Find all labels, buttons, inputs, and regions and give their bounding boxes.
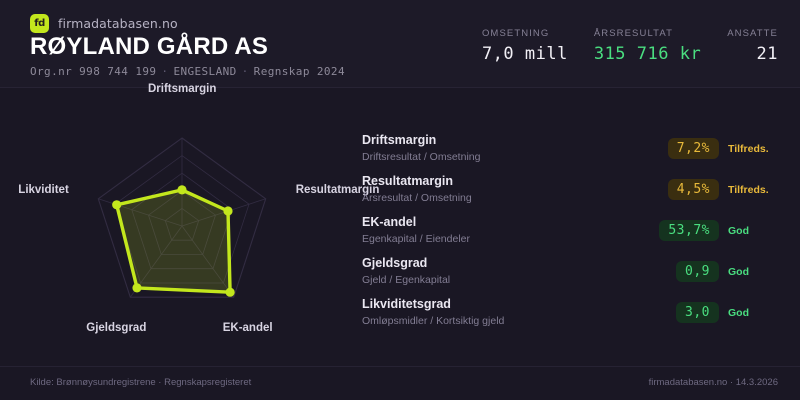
radar-axis-label-gjeldsgrad: Gjeldsgrad bbox=[86, 322, 146, 334]
metric-text: Resultatmargin Årsresultat / Omsetning bbox=[362, 174, 632, 204]
footer-source: Kilde: Brønnøysundregistrene · Regnskaps… bbox=[30, 377, 251, 388]
metric-name: Driftsmargin bbox=[362, 133, 632, 149]
metric-formula: Egenkapital / Eiendeler bbox=[362, 233, 632, 246]
stat-arsresultat: ÅRSRESULTAT 315 716 kr bbox=[594, 28, 701, 64]
radar-point-driftsmargin bbox=[177, 185, 186, 194]
stat-value: 21 bbox=[727, 44, 778, 64]
radar-chart-svg bbox=[0, 88, 350, 338]
status-badge: God bbox=[728, 266, 782, 278]
metric-name: Likviditetsgrad bbox=[362, 297, 632, 313]
metric-name: Resultatmargin bbox=[362, 174, 632, 190]
stat-value: 7,0 mill bbox=[482, 44, 568, 64]
stat-ansatte: ANSATTE 21 bbox=[727, 28, 778, 64]
metric-value-badge: 3,0 bbox=[676, 302, 719, 323]
radar-axis-label-driftsmargin: Driftsmargin bbox=[148, 83, 216, 95]
metric-name: EK-andel bbox=[362, 215, 632, 231]
metric-right: 4,5% Tilfreds. bbox=[632, 179, 782, 200]
header-stats: OMSETNING 7,0 mill ÅRSRESULTAT 315 716 k… bbox=[482, 28, 778, 64]
metric-value-badge: 53,7% bbox=[659, 220, 719, 241]
radar-point-ek-andel bbox=[226, 288, 235, 297]
infographic-card: fd firmadatabasen.no RØYLAND GÅRD AS Org… bbox=[0, 0, 800, 400]
radar-axis-label-likviditet: Likviditet bbox=[18, 184, 68, 196]
firmadatabasen-logo-icon: fd bbox=[30, 14, 49, 33]
metric-row-ek-andel: EK-andel Egenkapital / Eiendeler 53,7% G… bbox=[362, 210, 782, 251]
metric-formula: Gjeld / Egenkapital bbox=[362, 274, 632, 287]
metric-formula: Omløpsmidler / Kortsiktig gjeld bbox=[362, 315, 632, 328]
stat-omsetning: OMSETNING 7,0 mill bbox=[482, 28, 568, 64]
metric-formula: Driftsresultat / Omsetning bbox=[362, 151, 632, 164]
org-number: Org.nr 998 744 199 bbox=[30, 65, 156, 78]
meta-separator-1: · bbox=[156, 65, 173, 78]
metric-formula: Årsresultat / Omsetning bbox=[362, 192, 632, 205]
metric-text: Likviditetsgrad Omløpsmidler / Kortsikti… bbox=[362, 297, 632, 327]
footer: Kilde: Brønnøysundregistrene · Regnskaps… bbox=[0, 366, 800, 400]
status-badge: God bbox=[728, 307, 782, 319]
metric-row-driftsmargin: Driftsmargin Driftsresultat / Omsetning … bbox=[362, 128, 782, 169]
metric-value-badge: 7,2% bbox=[668, 138, 719, 159]
metrics-list: Driftsmargin Driftsresultat / Omsetning … bbox=[362, 128, 782, 333]
stat-label: OMSETNING bbox=[482, 28, 568, 39]
metric-right: 0,9 God bbox=[632, 261, 782, 282]
stat-value: 315 716 kr bbox=[594, 44, 701, 64]
footer-attribution: firmadatabasen.no · 14.3.2026 bbox=[649, 377, 778, 388]
stat-label: ANSATTE bbox=[727, 28, 778, 39]
metric-value-badge: 0,9 bbox=[676, 261, 719, 282]
metric-row-likviditetsgrad: Likviditetsgrad Omløpsmidler / Kortsikti… bbox=[362, 292, 782, 333]
radar-point-gjeldsgrad bbox=[132, 283, 141, 292]
brand[interactable]: fd firmadatabasen.no bbox=[30, 14, 178, 33]
accounting-period: Regnskap 2024 bbox=[254, 65, 345, 78]
company-meta: Org.nr 998 744 199·ENGESLAND·Regnskap 20… bbox=[30, 65, 345, 78]
radar-axis-label-ek-andel: EK-andel bbox=[223, 322, 273, 334]
metric-right: 3,0 God bbox=[632, 302, 782, 323]
radar-point-resultatmargin bbox=[223, 206, 232, 215]
metric-right: 53,7% God bbox=[632, 220, 782, 241]
status-badge: Tilfreds. bbox=[728, 143, 782, 155]
header: fd firmadatabasen.no RØYLAND GÅRD AS Org… bbox=[0, 0, 800, 88]
brand-name: firmadatabasen.no bbox=[58, 16, 178, 31]
metric-row-gjeldsgrad: Gjeldsgrad Gjeld / Egenkapital 0,9 God bbox=[362, 251, 782, 292]
status-badge: God bbox=[728, 225, 782, 237]
metric-row-resultatmargin: Resultatmargin Årsresultat / Omsetning 4… bbox=[362, 169, 782, 210]
page-title: RØYLAND GÅRD AS bbox=[30, 33, 268, 61]
radar-chart: DriftsmarginResultatmarginEK-andelGjelds… bbox=[0, 88, 350, 338]
metric-text: Gjeldsgrad Gjeld / Egenkapital bbox=[362, 256, 632, 286]
stat-label: ÅRSRESULTAT bbox=[594, 28, 701, 39]
company-place: ENGESLAND bbox=[173, 65, 236, 78]
metric-right: 7,2% Tilfreds. bbox=[632, 138, 782, 159]
metric-text: Driftsmargin Driftsresultat / Omsetning bbox=[362, 133, 632, 163]
metric-value-badge: 4,5% bbox=[668, 179, 719, 200]
radar-point-likviditet bbox=[112, 200, 121, 209]
meta-separator-2: · bbox=[237, 65, 254, 78]
metric-text: EK-andel Egenkapital / Eiendeler bbox=[362, 215, 632, 245]
metric-name: Gjeldsgrad bbox=[362, 256, 632, 272]
status-badge: Tilfreds. bbox=[728, 184, 782, 196]
